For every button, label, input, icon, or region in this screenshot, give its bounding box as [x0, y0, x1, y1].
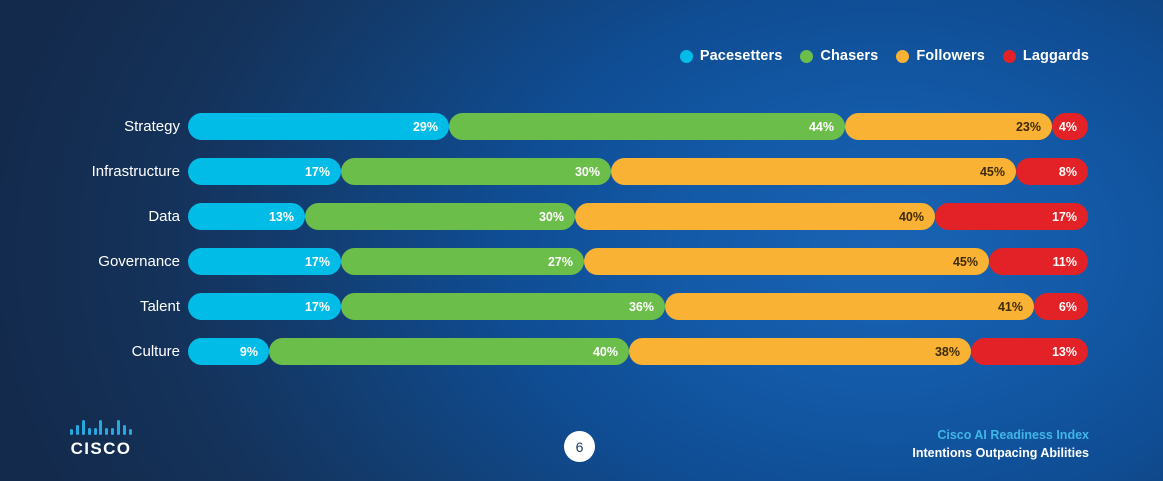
bar-segment-followers[interactable]: 40%: [575, 203, 935, 230]
legend-item-laggards[interactable]: Laggards: [1003, 48, 1089, 64]
bar-track: 17%27%45%11%: [188, 248, 1088, 275]
category-label: Strategy: [0, 118, 180, 135]
bar-segment-followers[interactable]: 23%: [845, 113, 1052, 140]
bar-segment-pacesetters[interactable]: 9%: [188, 338, 269, 365]
footer-report-subtitle: Intentions Outpacing Abilities: [912, 444, 1089, 462]
bar-segment-pacesetters[interactable]: 17%: [188, 158, 341, 185]
legend-color-dot-pacesetters: [680, 50, 693, 63]
bar-track: 13%30%40%17%: [188, 203, 1088, 230]
bar-segment-followers[interactable]: 45%: [611, 158, 1016, 185]
bar-track: 17%30%45%8%: [188, 158, 1088, 185]
bar-segment-followers[interactable]: 45%: [584, 248, 989, 275]
bar-segment-followers[interactable]: 41%: [665, 293, 1034, 320]
chart-row: Strategy29%44%23%4%: [0, 104, 1163, 149]
legend-item-chasers[interactable]: Chasers: [800, 48, 878, 64]
category-label: Culture: [0, 343, 180, 360]
cisco-bridge-icon: [70, 420, 132, 435]
legend-label-chasers: Chasers: [820, 48, 878, 64]
bar-segment-chasers[interactable]: 36%: [341, 293, 665, 320]
slide-canvas: Pacesetters Chasers Followers Laggards S…: [0, 0, 1163, 481]
legend-color-dot-laggards: [1003, 50, 1016, 63]
legend-color-dot-chasers: [800, 50, 813, 63]
bar-segment-laggards[interactable]: 8%: [1016, 158, 1088, 185]
chart-row: Culture9%40%38%13%: [0, 329, 1163, 374]
legend-color-dot-followers: [896, 50, 909, 63]
bar-segment-laggards[interactable]: 13%: [971, 338, 1088, 365]
chart-row: Infrastructure17%30%45%8%: [0, 149, 1163, 194]
footer-branding: Cisco AI Readiness Index Intentions Outp…: [912, 426, 1089, 462]
bar-segment-laggards[interactable]: 17%: [935, 203, 1088, 230]
page-number-badge: 6: [564, 431, 595, 462]
category-label: Infrastructure: [0, 163, 180, 180]
bar-segment-pacesetters[interactable]: 29%: [188, 113, 449, 140]
category-label: Governance: [0, 253, 180, 270]
cisco-wordmark: CISCO: [68, 439, 134, 459]
legend-item-followers[interactable]: Followers: [896, 48, 985, 64]
stacked-bar-chart: Strategy29%44%23%4%Infrastructure17%30%4…: [0, 104, 1163, 374]
category-label: Talent: [0, 298, 180, 315]
bar-track: 17%36%41%6%: [188, 293, 1088, 320]
bar-segment-laggards[interactable]: 11%: [989, 248, 1088, 275]
bar-segment-chasers[interactable]: 27%: [341, 248, 584, 275]
bar-segment-pacesetters[interactable]: 17%: [188, 248, 341, 275]
chart-row: Governance17%27%45%11%: [0, 239, 1163, 284]
chart-row: Data13%30%40%17%: [0, 194, 1163, 239]
legend-label-followers: Followers: [916, 48, 985, 64]
bar-segment-chasers[interactable]: 30%: [341, 158, 611, 185]
bar-track: 9%40%38%13%: [188, 338, 1088, 365]
bar-segment-chasers[interactable]: 44%: [449, 113, 845, 140]
cisco-logo: CISCO: [68, 420, 134, 459]
legend-label-laggards: Laggards: [1023, 48, 1089, 64]
bar-segment-pacesetters[interactable]: 13%: [188, 203, 305, 230]
bar-segment-chasers[interactable]: 30%: [305, 203, 575, 230]
legend-item-pacesetters[interactable]: Pacesetters: [680, 48, 783, 64]
category-label: Data: [0, 208, 180, 225]
bar-segment-chasers[interactable]: 40%: [269, 338, 629, 365]
bar-segment-laggards[interactable]: 4%: [1052, 113, 1088, 140]
bar-track: 29%44%23%4%: [188, 113, 1088, 140]
chart-legend: Pacesetters Chasers Followers Laggards: [680, 48, 1089, 64]
footer-report-title: Cisco AI Readiness Index: [912, 426, 1089, 444]
bar-segment-pacesetters[interactable]: 17%: [188, 293, 341, 320]
chart-row: Talent17%36%41%6%: [0, 284, 1163, 329]
bar-segment-followers[interactable]: 38%: [629, 338, 971, 365]
legend-label-pacesetters: Pacesetters: [700, 48, 783, 64]
bar-segment-laggards[interactable]: 6%: [1034, 293, 1088, 320]
